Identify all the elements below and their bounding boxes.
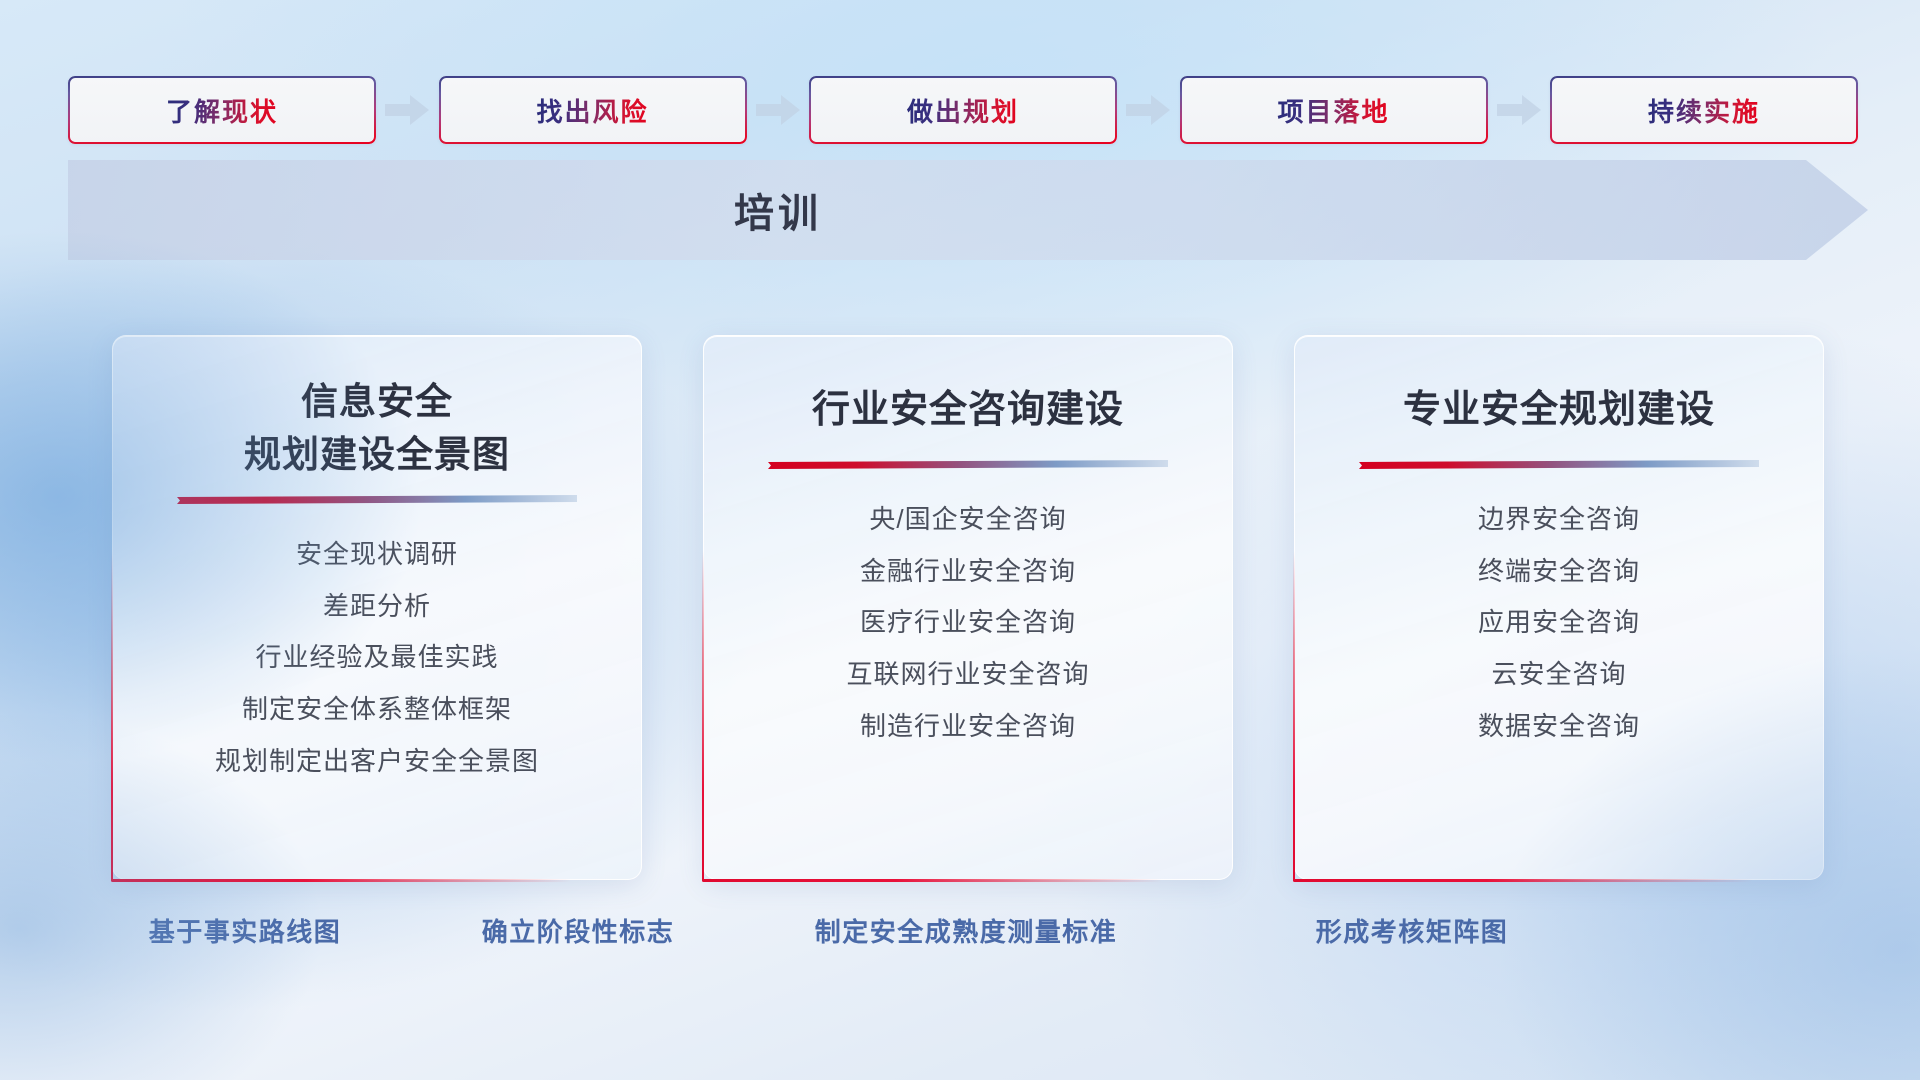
card-title: 专业安全规划建设 (1379, 384, 1739, 438)
list-item: 差距分析 (323, 585, 431, 629)
list-item: 规划制定出客户安全全景图 (215, 740, 539, 784)
step-chip-label: 做出规划 (907, 92, 1019, 129)
step-chip-label: 找出风险 (536, 92, 648, 129)
gradient-rule-icon (1359, 460, 1759, 470)
step-chip-label: 持续实施 (1648, 92, 1760, 129)
card-accent-rail-bottom (702, 879, 1162, 882)
step-arrow-1 (376, 76, 439, 144)
gradient-rule-icon (177, 495, 577, 505)
card-title: 信息安全 规划建设全景图 (220, 376, 534, 481)
step-arrow-3 (1117, 76, 1180, 144)
card-divider (1359, 460, 1759, 470)
footer-label-row: 基于事实路线图 确立阶段性标志 制定安全成熟度测量标准 形成考核矩阵图 (0, 912, 1920, 962)
card-professional-security-planning[interactable]: 专业安全规划建设 边 (1294, 335, 1824, 880)
list-item: 制造行业安全咨询 (860, 705, 1076, 749)
list-item: 安全现状调研 (296, 533, 458, 577)
list-item: 行业经验及最佳实践 (255, 636, 498, 680)
list-item: 医疗行业安全咨询 (860, 601, 1076, 645)
card-list: 边界安全咨询 终端安全咨询 应用安全咨询 云安全咨询 数据安全咨询 (1478, 498, 1640, 748)
card-divider (177, 495, 577, 505)
list-item: 央/国企安全咨询 (869, 498, 1066, 542)
card-title-line: 行业安全咨询建设 (812, 384, 1124, 438)
list-item: 金融行业安全咨询 (860, 550, 1076, 594)
slide-canvas: 了解现状 找出风险 做出规划 项目落地 (0, 0, 1920, 1080)
card-accent-rail-bottom (1293, 879, 1753, 882)
footer-label-milestones: 确立阶段性标志 (482, 912, 675, 949)
card-title-line: 信息安全 (244, 376, 510, 429)
arrow-right-icon (756, 95, 800, 125)
list-item: 互联网行业安全咨询 (846, 653, 1089, 697)
card-accent-rail-left (702, 551, 705, 881)
card-accent-rail-left (111, 551, 114, 881)
card-accent-rail-bottom (111, 879, 571, 882)
card-industry-security-consulting[interactable]: 行业安全咨询建设 央 (703, 335, 1233, 880)
arrow-right-icon (1126, 95, 1170, 125)
card-row: 信息安全 规划建设全景图 (112, 335, 1824, 880)
step-chip-label: 项目落地 (1277, 92, 1389, 129)
gradient-rule-icon (768, 460, 1168, 470)
card-accent-rail-left (1293, 551, 1296, 881)
footer-label-roadmap: 基于事实路线图 (149, 912, 342, 949)
step-chip-3[interactable]: 做出规划 (809, 76, 1117, 144)
step-chip-4[interactable]: 项目落地 (1180, 76, 1488, 144)
step-chip-label: 了解现状 (166, 92, 278, 129)
step-chip-2[interactable]: 找出风险 (439, 76, 747, 144)
card-title-line: 专业安全规划建设 (1403, 384, 1715, 438)
card-information-security-blueprint[interactable]: 信息安全 规划建设全景图 (112, 335, 642, 880)
step-chip-5[interactable]: 持续实施 (1550, 76, 1858, 144)
footer-label-maturity-std: 制定安全成熟度测量标准 (815, 912, 1118, 949)
card-list: 央/国企安全咨询 金融行业安全咨询 医疗行业安全咨询 互联网行业安全咨询 制造行… (846, 498, 1089, 748)
training-banner: 培训 (68, 160, 1868, 260)
arrow-right-icon (385, 95, 429, 125)
banner-title: 培训 (68, 160, 1488, 260)
process-step-row: 了解现状 找出风险 做出规划 项目落地 (68, 76, 1858, 144)
list-item: 终端安全咨询 (1478, 550, 1640, 594)
list-item: 数据安全咨询 (1478, 705, 1640, 749)
card-title: 行业安全咨询建设 (788, 384, 1148, 438)
card-divider (768, 460, 1168, 470)
list-item: 制定安全体系整体框架 (242, 688, 512, 732)
list-item: 边界安全咨询 (1478, 498, 1640, 542)
arrow-right-icon (1497, 95, 1541, 125)
list-item: 云安全咨询 (1491, 653, 1626, 697)
card-title-line: 规划建设全景图 (244, 429, 510, 482)
list-item: 应用安全咨询 (1478, 601, 1640, 645)
card-list: 安全现状调研 差距分析 行业经验及最佳实践 制定安全体系整体框架 规划制定出客户… (215, 533, 539, 783)
footer-label-assessment-map: 形成考核矩阵图 (1316, 912, 1509, 949)
step-arrow-2 (747, 76, 810, 144)
step-arrow-4 (1488, 76, 1551, 144)
step-chip-1[interactable]: 了解现状 (68, 76, 376, 144)
